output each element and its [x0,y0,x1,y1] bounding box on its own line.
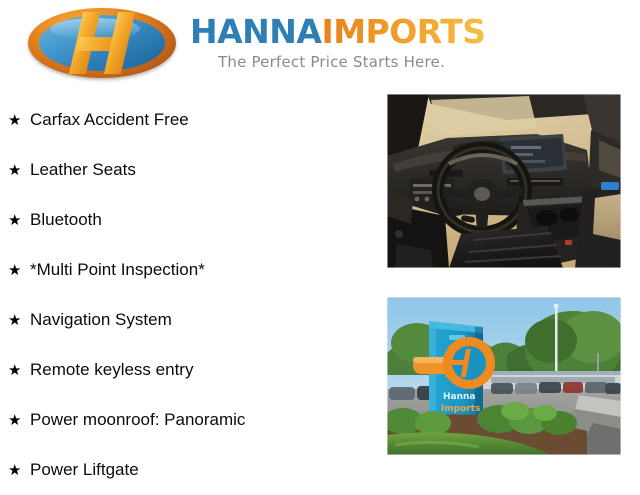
star-icon: ★ [8,113,30,128]
feature-label: Leather Seats [30,160,136,180]
list-item: ★ Navigation System [8,295,378,345]
list-item: ★ Bluetooth [8,195,378,245]
star-icon: ★ [8,463,30,478]
feature-label: Carfax Accident Free [30,110,189,130]
feature-label: Power Liftgate [30,460,139,480]
feature-label: Remote keyless entry [30,360,193,380]
star-icon: ★ [8,163,30,178]
feature-label: Navigation System [30,310,172,330]
brand-wordmark: HANNAIMPORTS [190,15,486,48]
dealership-sign-illustration: Hanna Imports [387,297,621,455]
feature-label: *Multi Point Inspection* [30,260,205,280]
star-icon: ★ [8,263,30,278]
sign-brand-line-two: Imports [441,404,480,414]
vehicle-interior-photo[interactable] [387,94,621,268]
brand-tagline: The Perfect Price Starts Here. [218,53,486,71]
star-icon: ★ [8,313,30,328]
brand-wordmark-imports: IMPORTS [321,12,485,51]
feature-label: Bluetooth [30,210,102,230]
sign-brand-line-one: Hanna [443,392,476,402]
header-banner: HANNAIMPORTS The Perfect Price Starts He… [0,0,640,88]
list-item: ★ Power Liftgate [8,445,378,495]
star-icon: ★ [8,413,30,428]
list-item: ★ Power moonroof: Panoramic [8,395,378,445]
list-item: ★ Carfax Accident Free [8,95,378,145]
vehicle-feature-list: ★ Carfax Accident Free ★ Leather Seats ★… [8,95,378,495]
list-item: ★ Leather Seats [8,145,378,195]
list-item: ★ *Multi Point Inspection* [8,245,378,295]
brand-wordmark-hanna: HANNA [190,12,321,51]
brand-text-block: HANNAIMPORTS The Perfect Price Starts He… [190,15,486,71]
star-icon: ★ [8,213,30,228]
list-item: ★ Remote keyless entry [8,345,378,395]
star-icon: ★ [8,363,30,378]
hanna-imports-oval-logo-icon [28,8,176,78]
feature-label: Power moonroof: Panoramic [30,410,245,430]
brand-logo-lockup[interactable]: HANNAIMPORTS The Perfect Price Starts He… [28,8,486,78]
vehicle-interior-illustration [387,94,621,268]
dealership-sign-photo[interactable]: Hanna Imports [387,297,621,455]
